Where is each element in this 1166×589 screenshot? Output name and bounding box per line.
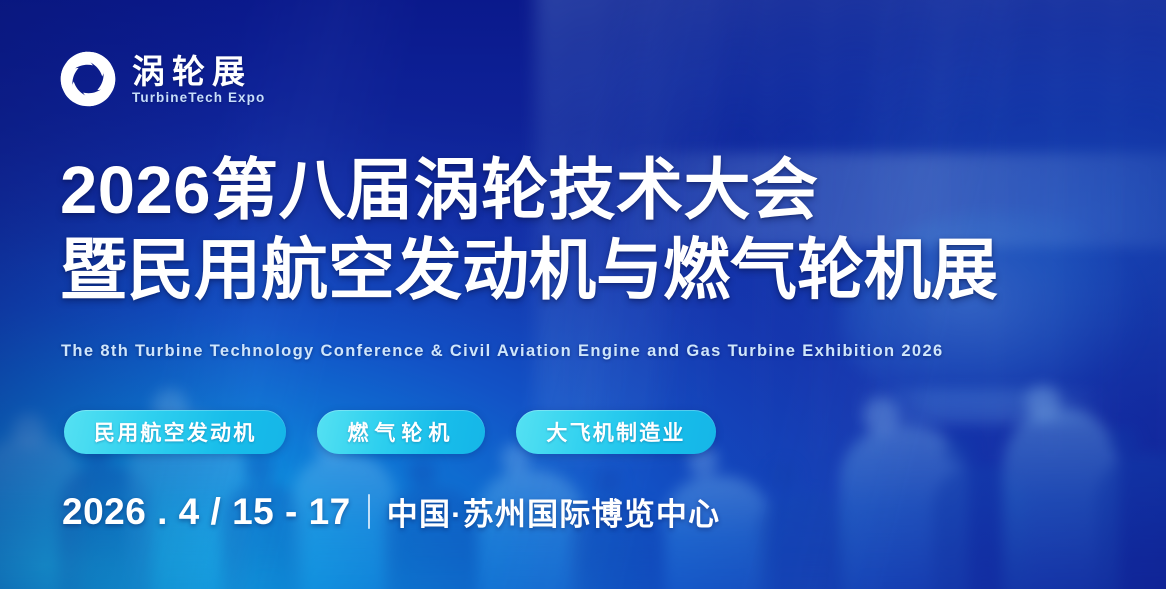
topic-pill-label: 大飞机制造业 — [546, 417, 685, 447]
date-venue-divider — [368, 494, 370, 529]
english-subtitle: The 8th Turbine Technology Conference & … — [61, 342, 944, 361]
topic-pill-large-aircraft-manufacturing[interactable]: 大飞机制造业 — [516, 410, 715, 454]
event-date-venue-bar: 2026 . 4 / 15 - 17 中国·苏州国际博览中心 — [62, 489, 720, 534]
topic-pill-gas-turbine[interactable]: 燃气轮机 — [317, 410, 485, 454]
topic-pill-label: 燃气轮机 — [347, 417, 455, 447]
headline-line-1: 2026第八届涡轮技术大会 — [60, 152, 998, 230]
headline-line-2: 暨民用航空发动机与燃气轮机展 — [60, 232, 998, 310]
brand-wordmark: 涡轮展 TurbineTech Expo — [132, 53, 265, 105]
banner-content: 涡轮展 TurbineTech Expo 2026第八届涡轮技术大会 暨民用航空… — [0, 0, 1166, 589]
conference-banner: 涡轮展 TurbineTech Expo 2026第八届涡轮技术大会 暨民用航空… — [0, 0, 1166, 589]
brand-logo-lockup[interactable]: 涡轮展 TurbineTech Expo — [57, 48, 265, 110]
headline-block: 2026第八届涡轮技术大会 暨民用航空发动机与燃气轮机展 — [60, 152, 998, 309]
event-venue: 中国·苏州国际博览中心 — [387, 489, 721, 534]
topic-pill-label: 民用航空发动机 — [94, 417, 256, 447]
topic-pill-group: 民用航空发动机 燃气轮机 大飞机制造业 — [64, 410, 716, 454]
brand-name-en: TurbineTech Expo — [132, 91, 265, 105]
event-date: 2026 . 4 / 15 - 17 — [62, 491, 351, 533]
brand-name-cn: 涡轮展 — [132, 55, 265, 89]
turbine-swirl-icon — [57, 48, 119, 110]
topic-pill-civil-aviation-engine[interactable]: 民用航空发动机 — [64, 410, 286, 454]
